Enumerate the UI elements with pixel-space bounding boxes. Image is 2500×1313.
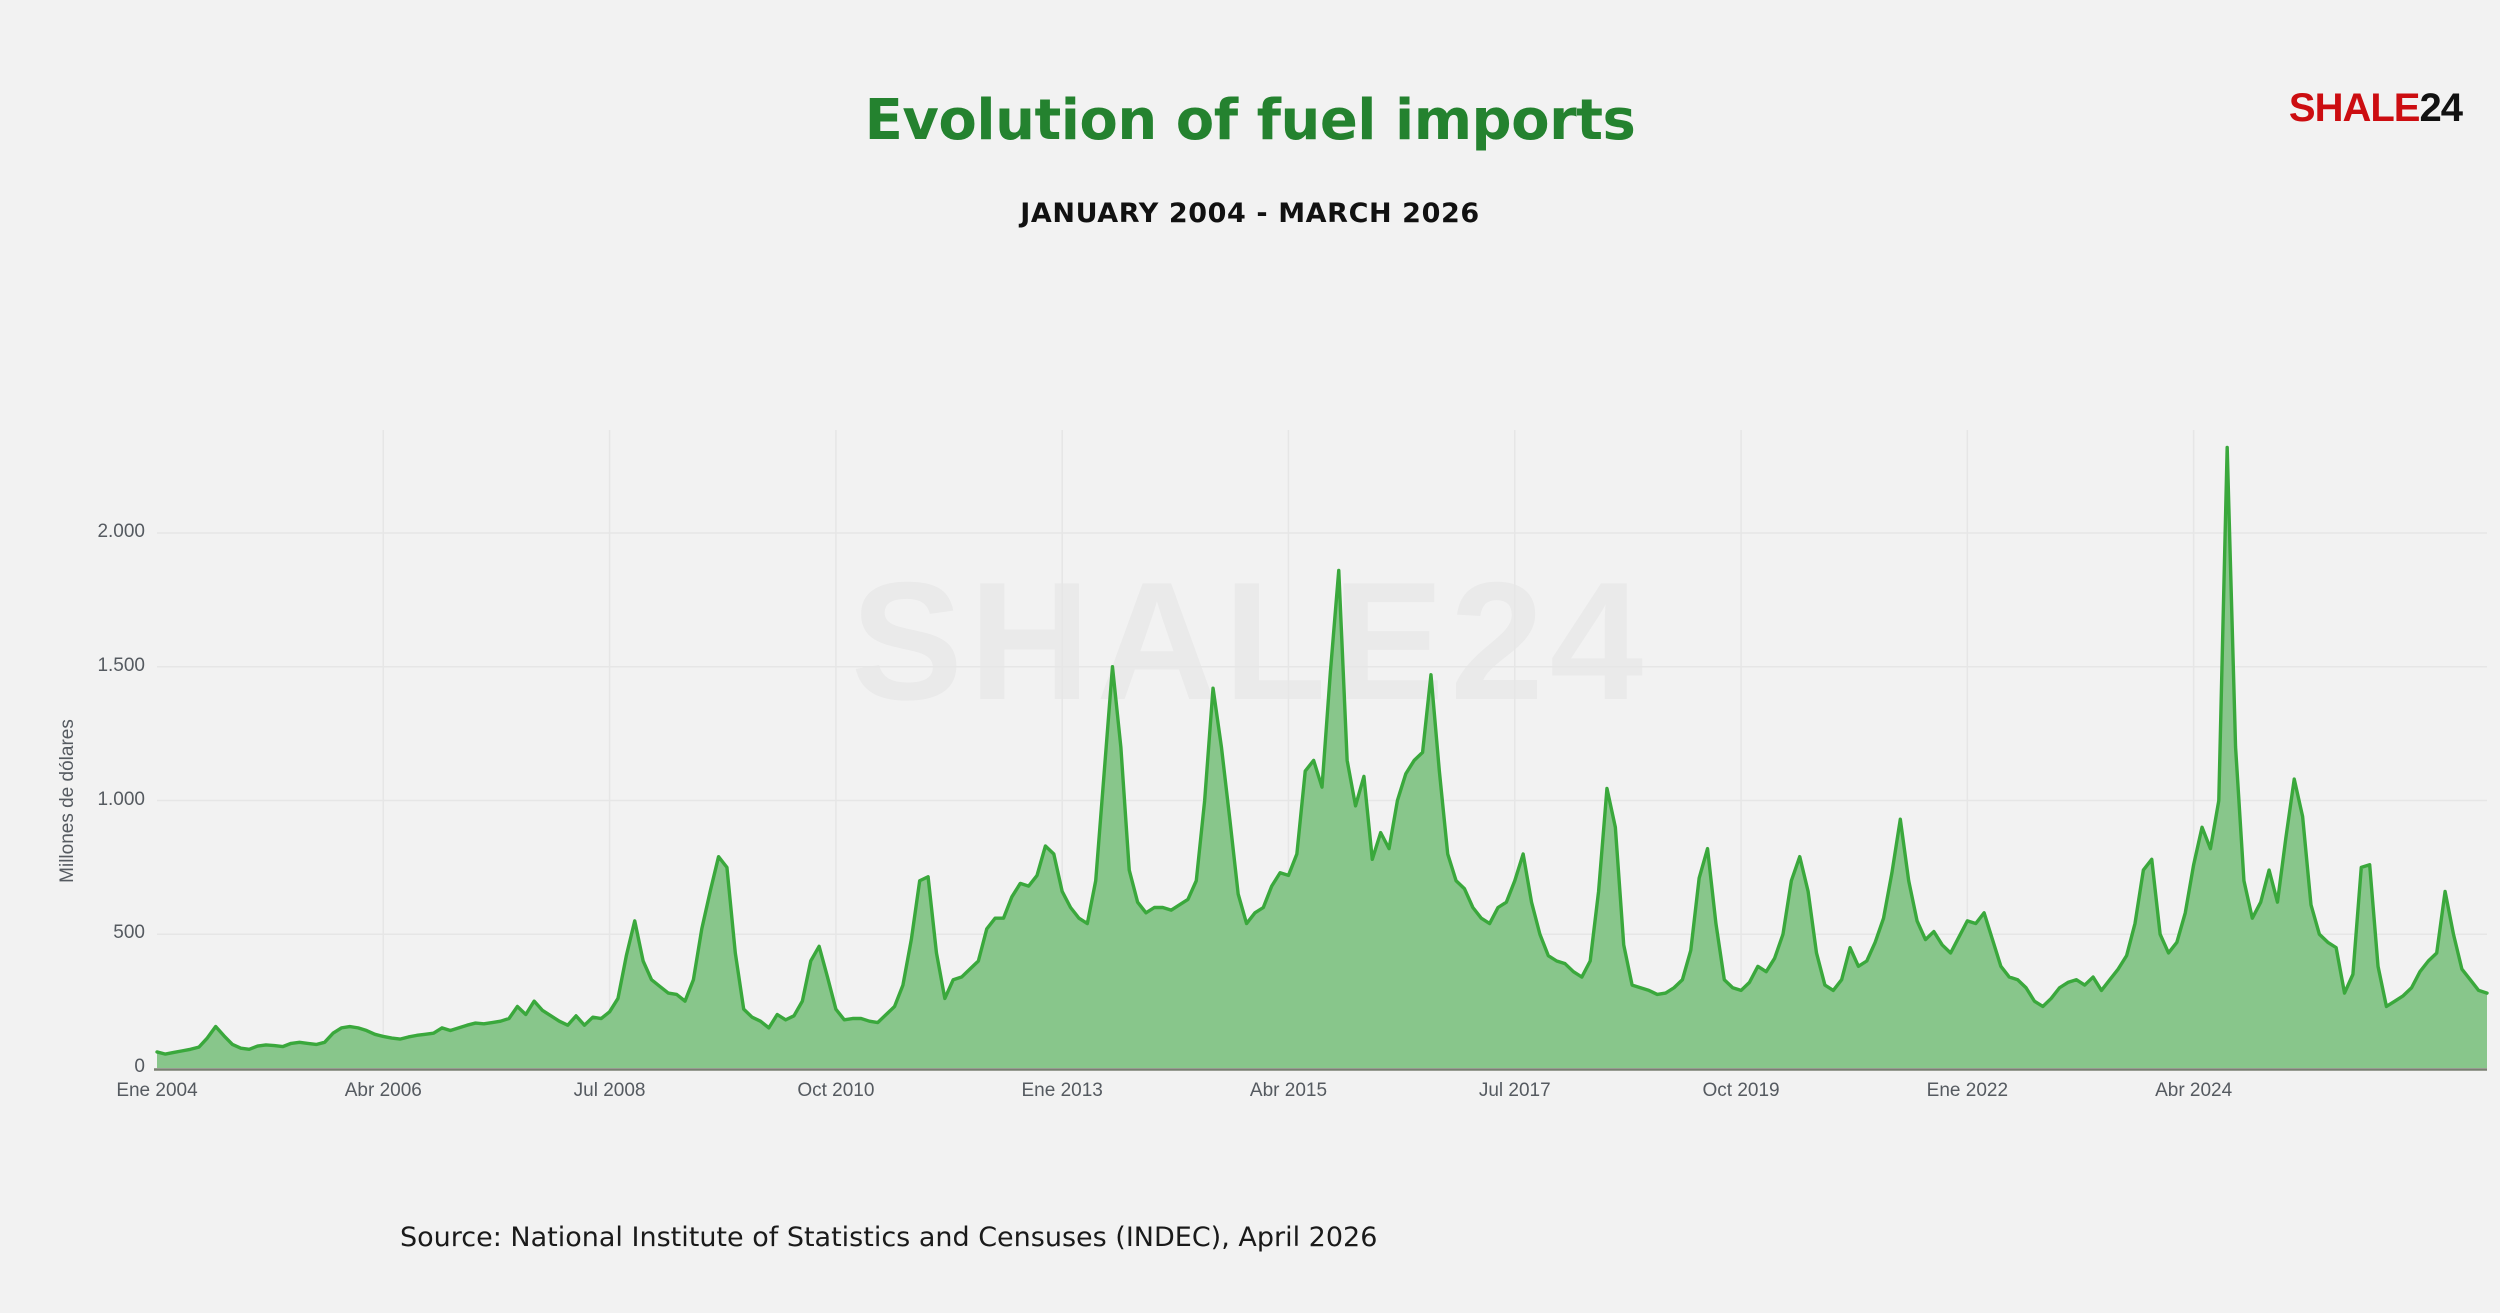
x-tick-label: Abr 2015: [1178, 1080, 1398, 1102]
x-tick-label: Oct 2010: [726, 1080, 946, 1102]
fuel-imports-area-chart: [0, 0, 2500, 1313]
x-tick-label: Ene 2013: [952, 1080, 1172, 1102]
x-tick-label: Jul 2017: [1405, 1080, 1625, 1102]
y-tick-label: 2.000: [0, 521, 145, 543]
source-caption: Source: National Institute of Statistics…: [400, 1222, 1377, 1253]
chart-container: 05001.0001.5002.000 Ene 2004Abr 2006Jul …: [0, 0, 2500, 1313]
x-tick-label: Jul 2008: [500, 1080, 720, 1102]
y-tick-label: 0: [0, 1056, 145, 1078]
x-tick-label: Abr 2024: [2084, 1080, 2304, 1102]
x-tick-label: Oct 2019: [1631, 1080, 1851, 1102]
x-tick-label: Ene 2004: [47, 1080, 267, 1102]
x-tick-label: Abr 2006: [273, 1080, 493, 1102]
y-axis-title: Millones de dólares: [57, 671, 79, 931]
x-tick-label: Ene 2022: [1857, 1080, 2077, 1102]
area-series-fill: [157, 447, 2487, 1068]
